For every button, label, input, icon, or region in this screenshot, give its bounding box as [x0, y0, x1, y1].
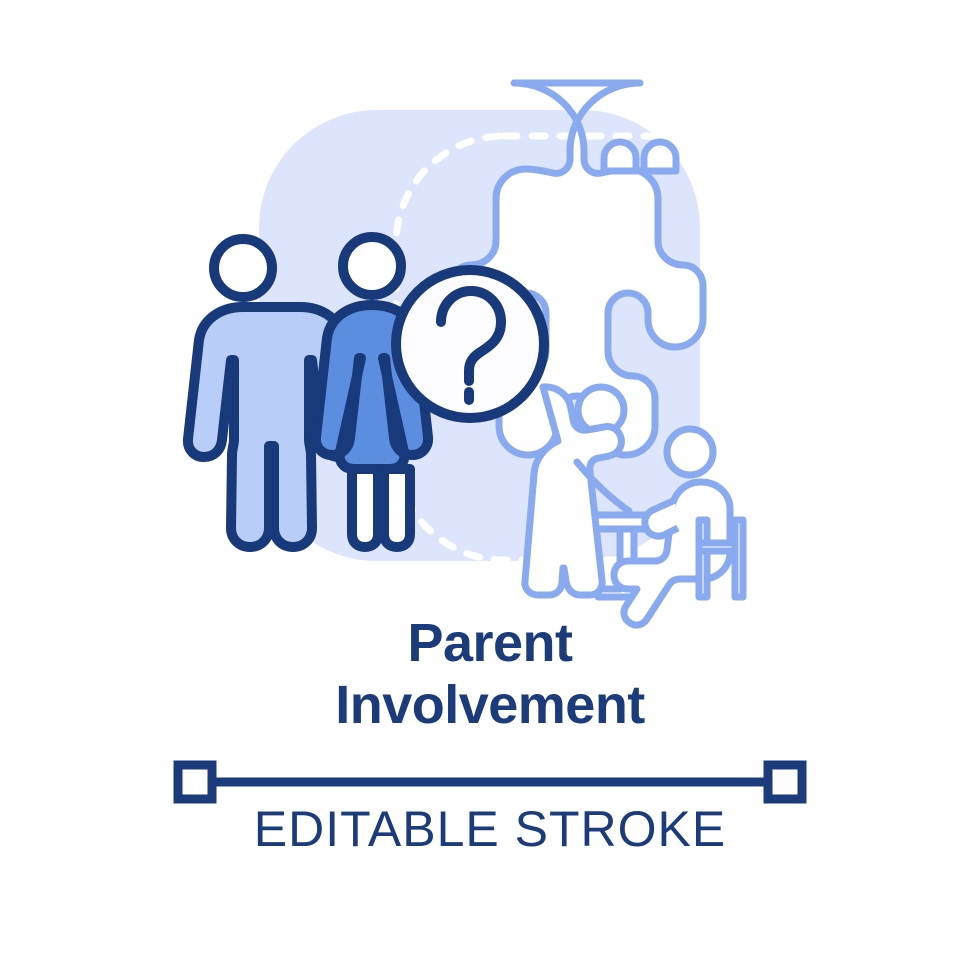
ghost-right-eye [644, 142, 676, 171]
question-mark-badge [396, 270, 544, 418]
ghost-left-eye [604, 142, 636, 171]
editable-stroke-label: EDITABLE STROKE [0, 800, 980, 858]
stroke-rule [178, 765, 802, 799]
illustration-canvas: Parent Involvement EDITABLE STROKE [0, 0, 980, 980]
stroke-handle-left [178, 765, 212, 799]
stroke-handle-right [768, 765, 802, 799]
editable-stroke-text: EDITABLE STROKE [254, 801, 727, 857]
